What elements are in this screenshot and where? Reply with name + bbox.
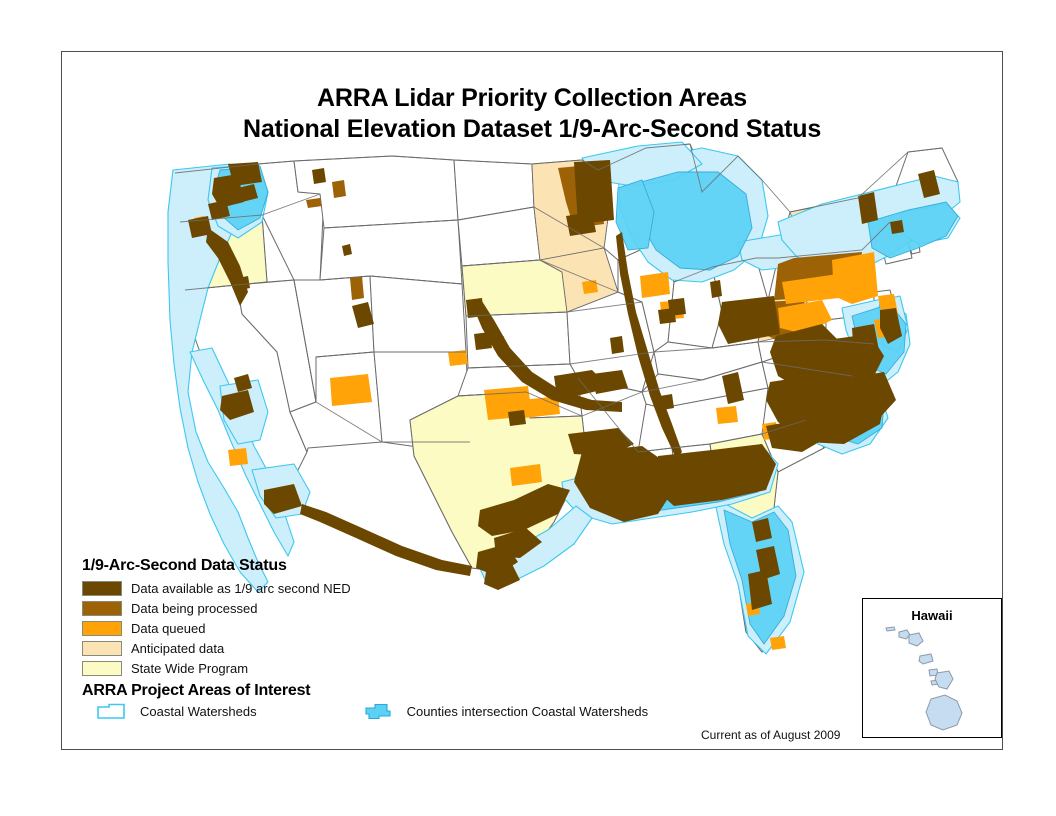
legend-label-available: Data available as 1/9 arc second NED xyxy=(131,581,351,596)
date-stamp: Current as of August 2009 xyxy=(701,728,840,742)
island-hawaii xyxy=(926,695,962,730)
coastal-watershed-icon xyxy=(96,703,126,720)
available-idaho-sm xyxy=(312,168,326,184)
legend-label-statewide: State Wide Program xyxy=(131,661,248,676)
available-missouri-c xyxy=(508,410,526,426)
island-kauai xyxy=(899,630,910,639)
processing-montana xyxy=(332,180,346,198)
available-tennessee-sm xyxy=(660,394,674,410)
swatch-available xyxy=(82,581,122,596)
legend: 1/9-Arc-Second Data Status Data availabl… xyxy=(82,557,682,720)
queued-tennessee xyxy=(716,406,738,424)
legend-item-coastal-watersheds[interactable]: Coastal Watersheds xyxy=(82,703,257,720)
swatch-anticipated xyxy=(82,641,122,656)
queued-wisconsin xyxy=(640,272,670,298)
queued-california-sm xyxy=(228,448,248,466)
legend-label-anticipated: Anticipated data xyxy=(131,641,224,656)
queued-utah xyxy=(330,374,372,406)
legend-item-queued[interactable]: Data queued xyxy=(82,618,682,638)
hawaii-inset[interactable]: Hawaii xyxy=(862,598,1002,738)
island-maui xyxy=(935,671,953,689)
hawaii-islands-svg xyxy=(863,599,1000,736)
legend-label-processing: Data being processed xyxy=(131,601,257,616)
swatch-queued xyxy=(82,621,122,636)
legend-item-counties-intersection[interactable]: Counties intersection Coastal Watersheds xyxy=(349,703,649,720)
legend-item-anticipated[interactable]: Anticipated data xyxy=(82,638,682,658)
legend-aoi-heading: ARRA Project Areas of Interest xyxy=(82,682,682,700)
available-newengland-sm xyxy=(890,220,904,234)
swatch-processing xyxy=(82,601,122,616)
swatch-statewide xyxy=(82,661,122,676)
available-minnesota-s xyxy=(566,212,596,236)
legend-label-coastal-watersheds: Coastal Watersheds xyxy=(140,704,257,719)
available-wisconsin-sm xyxy=(658,308,676,324)
available-arkansas xyxy=(610,336,624,354)
queued-iowa-sm xyxy=(582,280,598,294)
legend-label-counties-intersection: Counties intersection Coastal Watersheds xyxy=(407,704,649,719)
available-oregon-sm xyxy=(238,276,250,290)
legend-status-heading: 1/9-Arc-Second Data Status xyxy=(82,557,682,575)
legend-item-statewide[interactable]: State Wide Program xyxy=(82,658,682,678)
island-niihau xyxy=(886,627,895,631)
legend-item-processing[interactable]: Data being processed xyxy=(82,598,682,618)
queued-florida-b xyxy=(770,636,786,650)
available-michigan-sm xyxy=(710,280,722,298)
island-molokai xyxy=(919,654,933,664)
legend-label-queued: Data queued xyxy=(131,621,205,636)
legend-aoi-rows: Coastal Watersheds Counties intersection… xyxy=(82,703,682,720)
island-oahu xyxy=(909,633,923,646)
map-frame: ARRA Lidar Priority Collection Areas Nat… xyxy=(61,51,1003,750)
processing-utah-a xyxy=(350,276,364,300)
counties-intersection-icon xyxy=(363,703,393,720)
legend-item-available[interactable]: Data available as 1/9 arc second NED xyxy=(82,578,682,598)
